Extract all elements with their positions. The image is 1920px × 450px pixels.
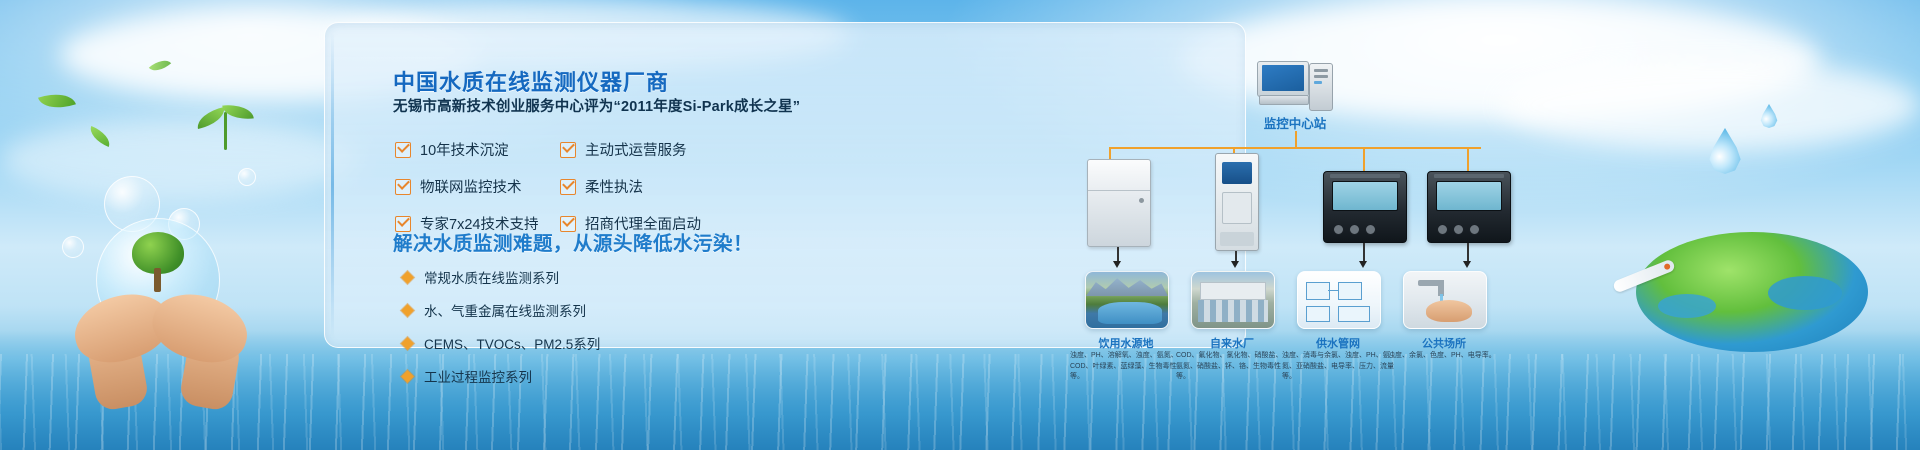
arrow-down-icon — [1231, 261, 1239, 268]
checkbox-icon — [560, 142, 576, 158]
sprout-icon — [196, 104, 256, 152]
tagline: 解决水质监测难题，从源头降低水污染！ — [393, 227, 753, 256]
page-title: 中国水质在线监测仪器厂商 — [393, 65, 669, 97]
diamond-bullet-icon — [401, 271, 414, 284]
scenario-caption: 自来水厂 — [1177, 335, 1287, 351]
banner-stage: 中国水质在线监测仪器厂商 无锡市高新技术创业服务中心评为“2011年度Si-Pa… — [0, 0, 1920, 450]
desktop-computer-icon — [1257, 61, 1333, 109]
scenario-parameters: 浊度、消毒与余氯、浊度、PH、氨氮、亚硝酸盐、电导率、压力、流量等。 — [1282, 351, 1394, 383]
scenario-image-river — [1085, 271, 1169, 329]
diagram-branch-line — [1363, 147, 1365, 173]
list-item-label: 常规水质在线监测系列 — [424, 267, 559, 287]
scenario-parameters: 浊度、PH、溶解氧、浊度、氨氮、COD、叶绿素、蓝绿藻、生物毒性等。 — [1070, 351, 1182, 383]
diagram-riser-line — [1295, 131, 1297, 147]
content-panel: 中国水质在线监测仪器厂商 无锡市高新技术创业服务中心评为“2011年度Si-Pa… — [324, 22, 1246, 348]
panel-controller-device — [1323, 171, 1407, 243]
list-item-label: CEMS、TVOCs、PM2.5系列 — [424, 333, 600, 353]
diamond-bullet-icon — [401, 304, 414, 317]
feature-item: 柔性执法 — [560, 176, 725, 197]
water-sparkle — [0, 354, 1920, 450]
feature-item: 主动式运营服务 — [560, 139, 725, 160]
feature-label: 10年技术沉淀 — [420, 139, 509, 160]
scenario-parameters: 浊度、余氯、色度、PH、电导率。 — [1388, 351, 1500, 362]
scenario-caption: 公共场所 — [1389, 335, 1499, 351]
cloud-decoration — [0, 120, 360, 200]
feature-row: 10年技术沉淀 主动式运营服务 — [395, 139, 725, 160]
arrow-down-icon — [1463, 261, 1471, 268]
diagram-branch-line — [1467, 147, 1469, 173]
product-line-list: 常规水质在线监测系列 水、气重金属在线监测系列 CEMS、TVOCs、PM2.5… — [403, 267, 600, 399]
feature-item: 物联网监控技术 — [395, 176, 560, 197]
diamond-bullet-icon — [401, 370, 414, 383]
cabinet-analyzer-device — [1087, 159, 1151, 247]
arrow-down-icon — [1113, 261, 1121, 268]
arrow-shaft — [1363, 243, 1365, 263]
list-item-label: 水、气重金属在线监测系列 — [424, 300, 586, 320]
rack-analyzer-device — [1215, 153, 1259, 251]
cloud-decoration — [1500, 60, 1920, 150]
feature-label: 主动式运营服务 — [585, 139, 687, 160]
list-item: 工业过程监控系列 — [403, 366, 600, 386]
list-item-label: 工业过程监控系列 — [424, 366, 532, 386]
list-item: 常规水质在线监测系列 — [403, 267, 600, 287]
feature-row: 物联网监控技术 柔性执法 — [395, 176, 725, 197]
scenario-caption: 供水管网 — [1283, 335, 1393, 351]
scenario-image-water-plant — [1191, 271, 1275, 329]
arrow-down-icon — [1359, 261, 1367, 268]
bubble-decoration — [238, 168, 256, 186]
scenario-caption: 饮用水源地 — [1071, 335, 1181, 351]
feature-item: 10年技术沉淀 — [395, 139, 560, 160]
scenario-image-pipe-network — [1297, 271, 1381, 329]
checkbox-icon — [395, 142, 411, 158]
scenario-parameters: COD、氟化物、氯化物、硝酸盐、氨氮、硝酸盐、钚、铬、生物毒性等。 — [1176, 351, 1288, 383]
feature-label: 物联网监控技术 — [420, 176, 522, 197]
monitoring-center-label: 监控中心站 — [1215, 113, 1375, 132]
arrow-shaft — [1467, 243, 1469, 263]
cupped-hands-illustration — [74, 286, 254, 406]
list-item: 水、气重金属在线监测系列 — [403, 300, 600, 320]
checkbox-icon — [560, 179, 576, 195]
checkbox-icon — [395, 179, 411, 195]
system-topology-diagram: 监控中心站 — [1065, 43, 1535, 373]
list-item: CEMS、TVOCs、PM2.5系列 — [403, 333, 600, 353]
earth-globe-illustration — [1636, 232, 1868, 350]
bubble-decoration — [62, 236, 84, 258]
feature-label: 柔性执法 — [585, 176, 643, 197]
page-subtitle: 无锡市高新技术创业服务中心评为“2011年度Si-Park成长之星” — [393, 95, 800, 116]
diamond-bullet-icon — [401, 337, 414, 350]
diagram-bus-line — [1109, 147, 1481, 149]
scenario-image-faucet — [1403, 271, 1487, 329]
panel-controller-device — [1427, 171, 1511, 243]
